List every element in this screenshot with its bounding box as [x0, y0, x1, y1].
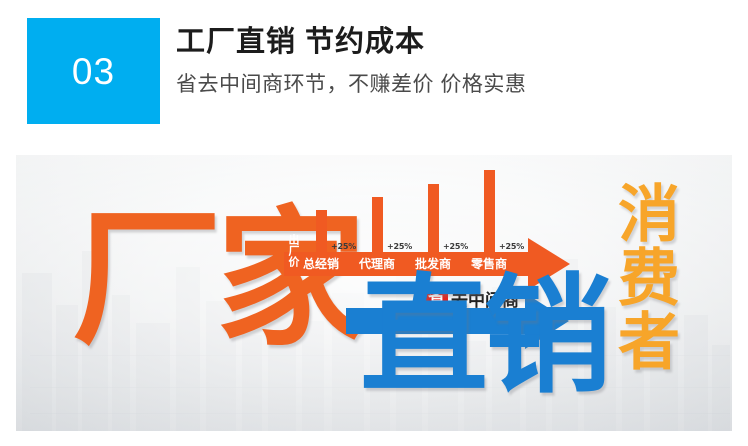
header-text-block: 工厂直销 节约成本 省去中间商环节，不赚差价 价格实惠 [176, 24, 716, 99]
markup-percent-label: +25% [331, 242, 356, 251]
consumer-label: 消费者 [608, 181, 678, 373]
markup-percent-label: +25% [387, 242, 412, 251]
markup-bar [484, 170, 495, 252]
markup-percent-label: +25% [443, 242, 468, 251]
header-section: 03 工厂直销 节约成本 省去中间商环节，不赚差价 价格实惠 [0, 0, 748, 150]
markup-bar [428, 184, 439, 252]
page-title: 工厂直销 节约成本 [176, 24, 716, 60]
page-subtitle: 省去中间商环节，不赚差价 价格实惠 [176, 71, 716, 98]
illustration-banner: 厂家 出厂价 +25% +25% +25% +25% 总经销 代理商 批发商 零… [16, 155, 732, 431]
markup-bar [372, 197, 383, 252]
direct-sales-big-word: 直销 [360, 273, 608, 401]
step-number-badge: 03 [27, 18, 160, 124]
step-number-text: 03 [72, 53, 115, 90]
ex-factory-price-label: 出厂价 [283, 234, 299, 267]
middleman-name-total-distributor: 总经销 [303, 255, 339, 273]
markup-bar [316, 210, 327, 252]
markup-percent-label: +25% [499, 242, 524, 251]
